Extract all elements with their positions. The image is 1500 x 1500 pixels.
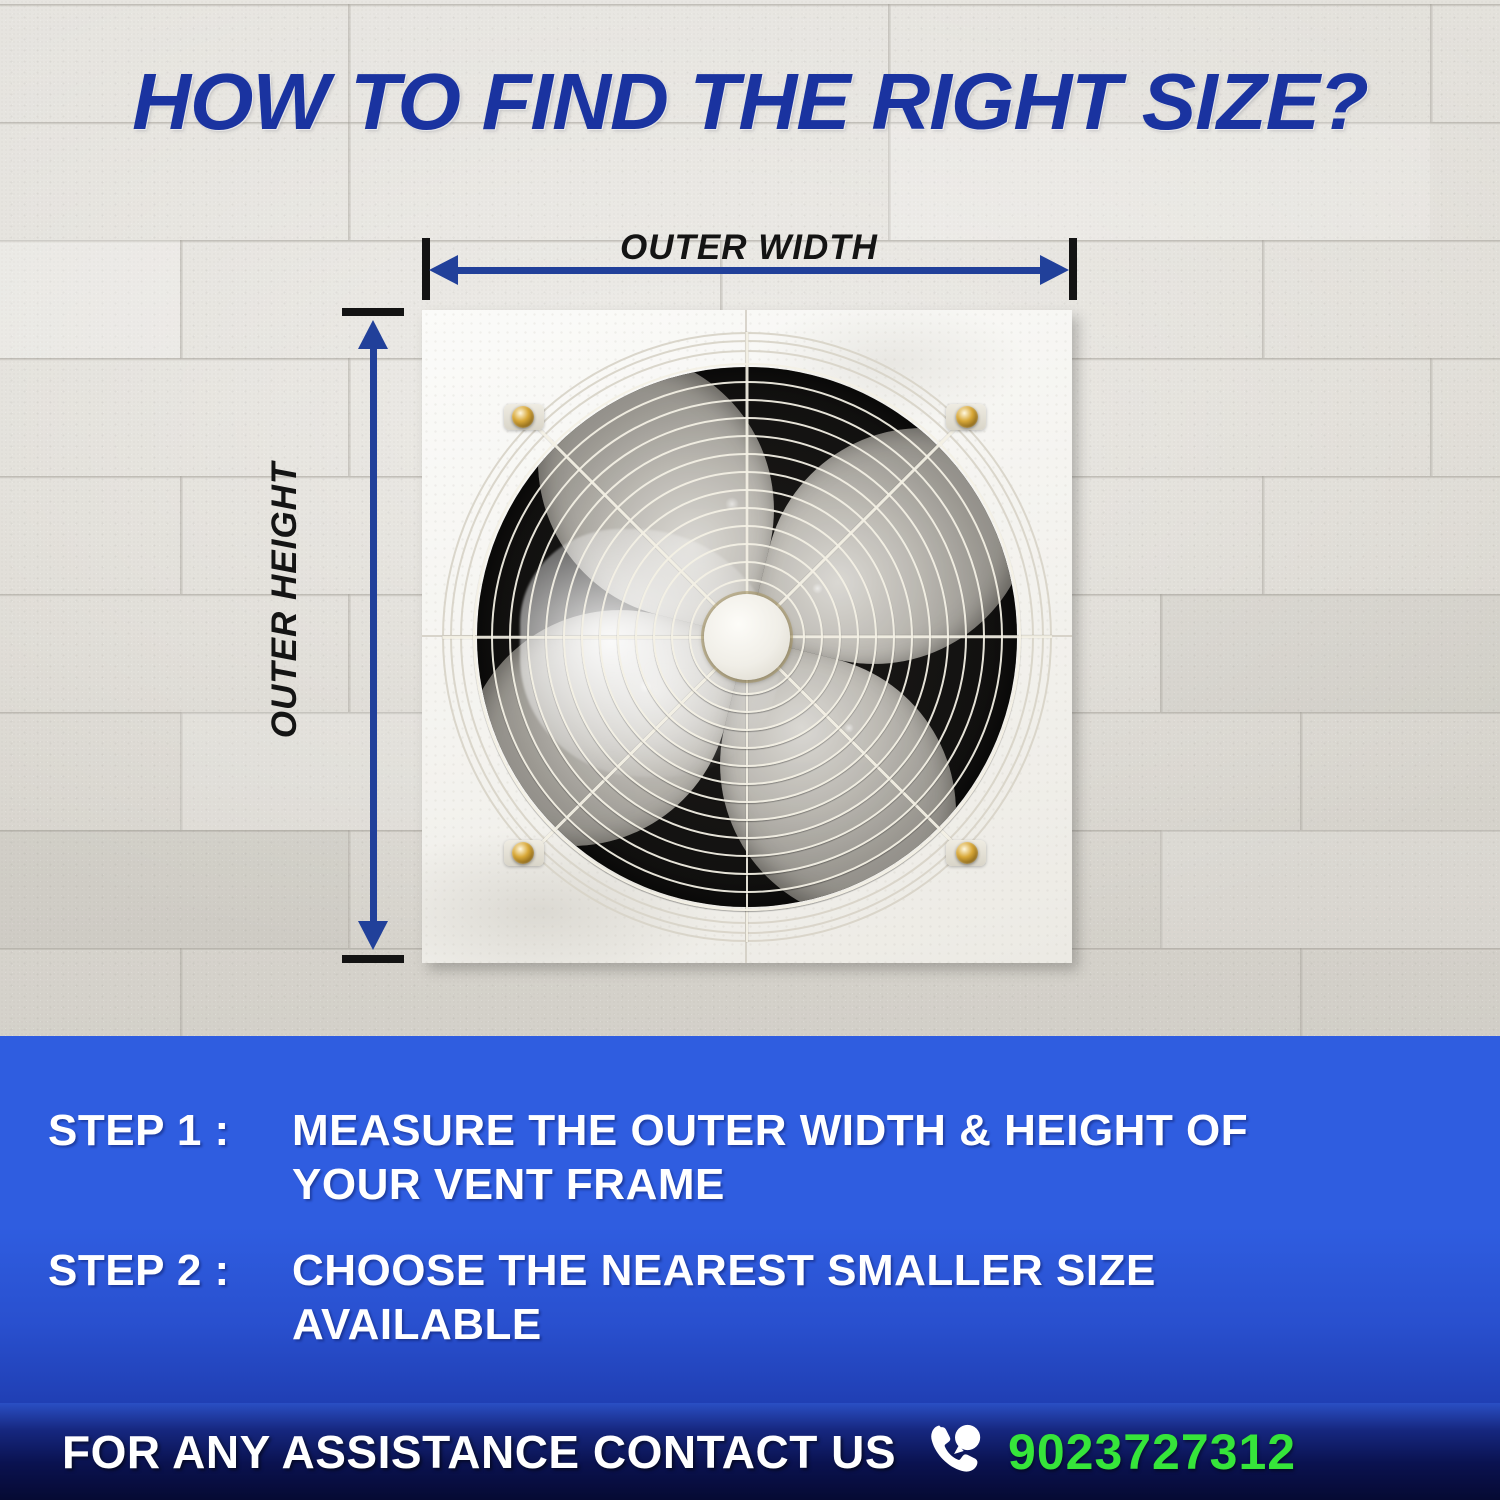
infographic-page: OUTER WIDTH OUTER HEIGHT HOW TO FIND THE…: [0, 0, 1500, 1500]
page-title: HOW TO FIND THE RIGHT SIZE?: [0, 62, 1500, 142]
width-extension-cap-right: [1069, 238, 1077, 300]
brick-shade: [1160, 830, 1500, 948]
brick-joint: [1262, 476, 1265, 594]
phone-support-icon: [924, 1421, 986, 1483]
brick-joint: [1430, 358, 1433, 476]
brick-joint: [348, 358, 351, 476]
height-extension-cap-bottom: [342, 955, 404, 963]
fan-hub: [704, 594, 790, 680]
product-photo-area: OUTER WIDTH OUTER HEIGHT: [0, 0, 1500, 1036]
step-2-text: CHOOSE THE NEAREST SMALLER SIZE AVAILABL…: [292, 1244, 1372, 1351]
mounting-screw: [512, 406, 534, 428]
contact-prompt-text: FOR ANY ASSISTANCE CONTACT US: [62, 1425, 896, 1479]
brick-joint: [1300, 948, 1303, 1036]
brick-joint: [348, 594, 351, 712]
step-1-label: STEP 1 :: [0, 1104, 292, 1211]
brick-joint: [1300, 712, 1303, 830]
brick-shade: [0, 240, 180, 358]
contact-footer: FOR ANY ASSISTANCE CONTACT US 9023727312: [0, 1403, 1500, 1500]
mounting-screw: [956, 406, 978, 428]
contact-phone-number[interactable]: 9023727312: [1008, 1423, 1296, 1481]
step-row: STEP 1 : MEASURE THE OUTER WIDTH & HEIGH…: [0, 1104, 1500, 1211]
mounting-screw: [956, 842, 978, 864]
steps-panel: STEP 1 : MEASURE THE OUTER WIDTH & HEIGH…: [0, 1036, 1500, 1403]
step-row: STEP 2 : CHOOSE THE NEAREST SMALLER SIZE…: [0, 1244, 1500, 1351]
arrow-head-down: [358, 921, 388, 950]
brick-joint: [1262, 240, 1265, 358]
exhaust-fan-panel: [422, 310, 1072, 963]
arrow-head-up: [358, 320, 388, 349]
outer-height-label: OUTER HEIGHT: [265, 462, 305, 738]
brick-mortar-line: [0, 4, 1500, 7]
brick-joint: [348, 830, 351, 948]
brick-shade: [1160, 594, 1500, 712]
outer-height-arrow: [360, 320, 386, 950]
brick-joint: [180, 948, 183, 1036]
arrow-shaft: [370, 346, 377, 924]
brick-shade: [0, 830, 348, 948]
brick-joint: [180, 240, 183, 358]
mounting-screw: [512, 842, 534, 864]
brick-joint: [180, 476, 183, 594]
step-1-text: MEASURE THE OUTER WIDTH & HEIGHT OF YOUR…: [292, 1104, 1372, 1211]
height-extension-cap-top: [342, 308, 404, 316]
step-2-label: STEP 2 :: [0, 1244, 292, 1351]
outer-width-label: OUTER WIDTH: [429, 228, 1069, 268]
